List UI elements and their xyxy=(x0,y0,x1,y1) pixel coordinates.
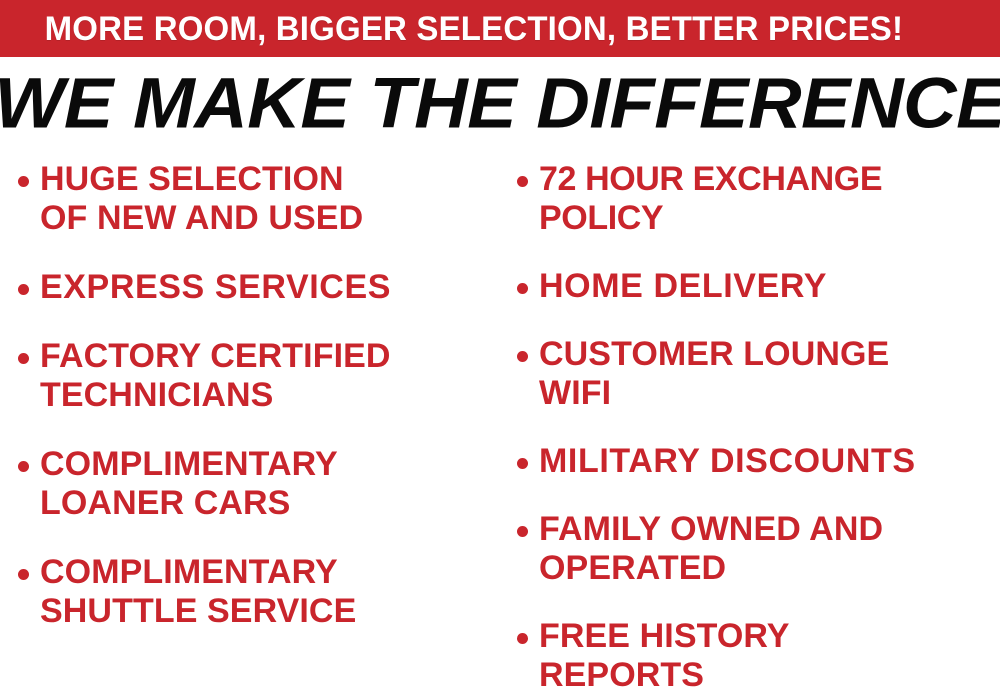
list-item: MILITARY DISCOUNTS xyxy=(517,442,1000,481)
list-item-label: FACTORY CERTIFIED TECHNICIANS xyxy=(40,337,391,415)
list-item: HOME DELIVERY xyxy=(517,267,1000,306)
bullet-dot-icon xyxy=(517,458,528,469)
list-item-label: FAMILY OWNED AND OPERATED xyxy=(539,510,883,588)
bullet-dot-icon xyxy=(517,633,528,644)
list-item-label: COMPLIMENTARY SHUTTLE SERVICE xyxy=(40,553,356,631)
page-title: WE MAKE THE DIFFERENCE xyxy=(0,67,1000,138)
headline-container: WE MAKE THE DIFFERENCE xyxy=(0,64,1000,142)
list-item-label: EXPRESS SERVICES xyxy=(40,268,391,307)
list-item-label: MILITARY DISCOUNTS xyxy=(539,442,916,481)
bullet-dot-icon xyxy=(18,353,29,364)
bullet-dot-icon xyxy=(517,283,528,294)
promo-banner-text: MORE ROOM, BIGGER SELECTION, BETTER PRIC… xyxy=(0,12,903,46)
promo-banner: MORE ROOM, BIGGER SELECTION, BETTER PRIC… xyxy=(0,0,1000,57)
benefits-column-right: 72 HOUR EXCHANGE POLICY HOME DELIVERY CU… xyxy=(500,160,1000,694)
dealership-benefits-poster: MORE ROOM, BIGGER SELECTION, BETTER PRIC… xyxy=(0,0,1000,694)
bullet-dot-icon xyxy=(517,526,528,537)
list-item: EXPRESS SERVICES xyxy=(18,268,500,307)
list-item: FREE HISTORY REPORTS xyxy=(517,617,1000,694)
bullet-dot-icon xyxy=(517,351,528,362)
list-item: FACTORY CERTIFIED TECHNICIANS xyxy=(18,337,500,415)
list-item: COMPLIMENTARY LOANER CARS xyxy=(18,445,500,523)
list-item: CUSTOMER LOUNGE WIFI xyxy=(517,335,1000,413)
list-item-label: COMPLIMENTARY LOANER CARS xyxy=(40,445,338,523)
bullet-dot-icon xyxy=(18,176,29,187)
list-item-label: FREE HISTORY REPORTS xyxy=(539,617,790,694)
benefits-column-left: HUGE SELECTION OF NEW AND USED EXPRESS S… xyxy=(0,160,500,694)
list-item: HUGE SELECTION OF NEW AND USED xyxy=(18,160,500,238)
list-item-label: 72 HOUR EXCHANGE POLICY xyxy=(539,160,882,238)
list-item-label: HUGE SELECTION OF NEW AND USED xyxy=(40,160,363,238)
benefits-columns: HUGE SELECTION OF NEW AND USED EXPRESS S… xyxy=(0,160,1000,694)
bullet-dot-icon xyxy=(517,176,528,187)
bullet-dot-icon xyxy=(18,569,29,580)
bullet-dot-icon xyxy=(18,461,29,472)
list-item-label: CUSTOMER LOUNGE WIFI xyxy=(539,335,889,413)
bullet-dot-icon xyxy=(18,284,29,295)
list-item-label: HOME DELIVERY xyxy=(539,267,827,306)
list-item: 72 HOUR EXCHANGE POLICY xyxy=(517,160,1000,238)
list-item: COMPLIMENTARY SHUTTLE SERVICE xyxy=(18,553,500,631)
list-item: FAMILY OWNED AND OPERATED xyxy=(517,510,1000,588)
